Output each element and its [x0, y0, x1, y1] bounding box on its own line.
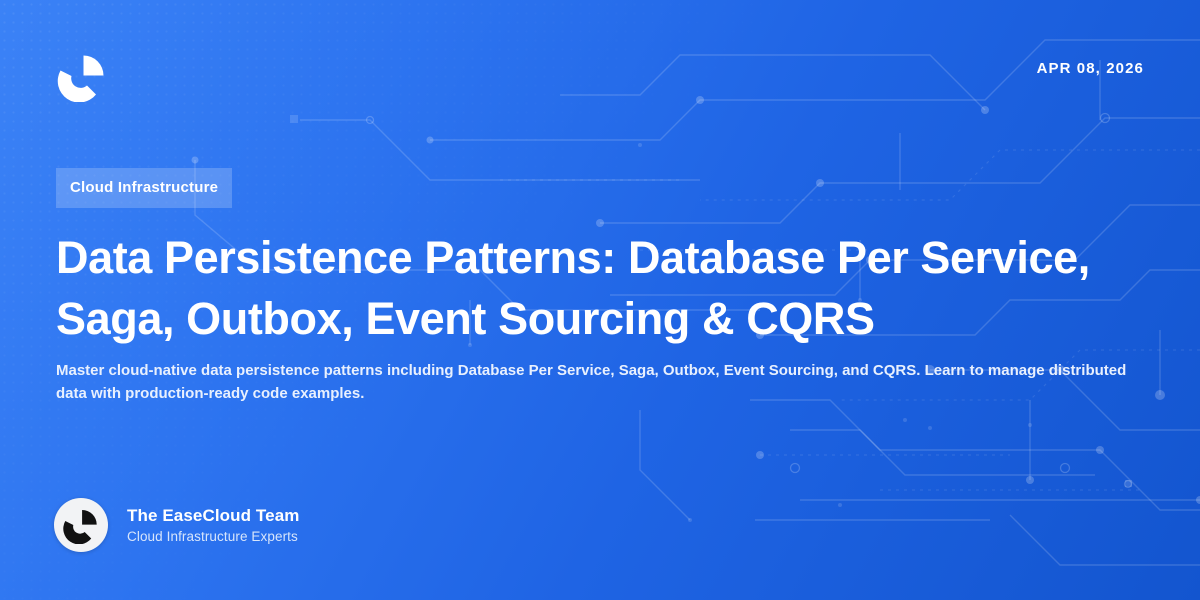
author-text: The EaseCloud Team Cloud Infrastructure …	[127, 506, 299, 544]
author-role: Cloud Infrastructure Experts	[127, 529, 299, 544]
publish-date: APR 08, 2026	[1037, 60, 1144, 77]
article-hero-banner: APR 08, 2026 Cloud Infrastructure Data P…	[0, 0, 1200, 600]
hero-content: Cloud Infrastructure Data Persistence Pa…	[56, 168, 1146, 405]
avatar[interactable]	[54, 498, 108, 552]
pie-chart-avatar-icon	[62, 506, 100, 544]
article-summary: Master cloud-native data persistence pat…	[56, 359, 1136, 405]
category-badge[interactable]: Cloud Infrastructure	[56, 168, 232, 208]
pie-chart-logo-icon	[56, 50, 108, 102]
page-title: Data Persistence Patterns: Database Per …	[56, 227, 1146, 349]
author-name: The EaseCloud Team	[127, 506, 299, 526]
brand-logo[interactable]	[56, 50, 108, 102]
author-block: The EaseCloud Team Cloud Infrastructure …	[54, 498, 299, 552]
